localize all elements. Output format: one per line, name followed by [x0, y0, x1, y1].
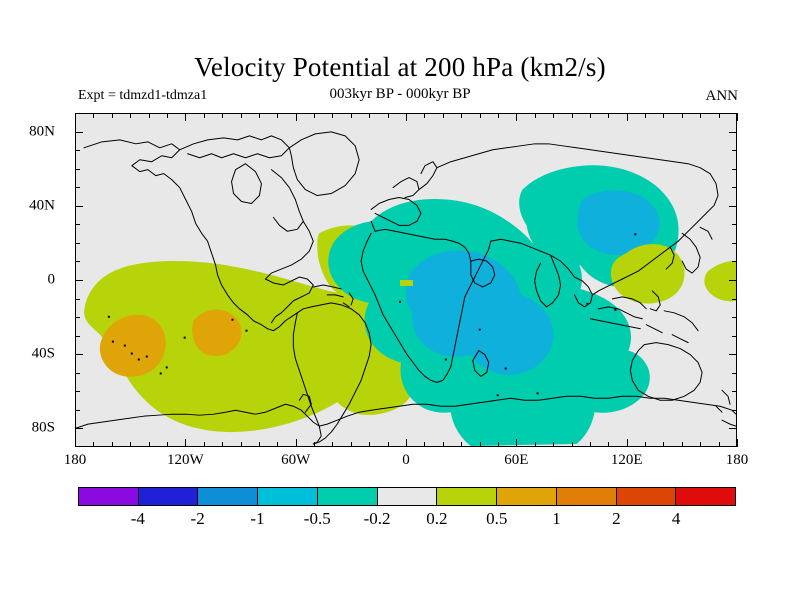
x-tick-top [663, 113, 664, 118]
colorbar[interactable] [78, 487, 736, 506]
x-tick-top [369, 113, 370, 118]
x-tick-bottom [204, 442, 205, 447]
region-maritime-positive-wrap [704, 261, 736, 301]
colorbar-segment[interactable] [437, 488, 497, 505]
y-tick-right [732, 373, 737, 374]
x-tick-bottom [75, 439, 76, 447]
x-tick-top [388, 113, 389, 118]
x-tick-bottom [112, 442, 113, 447]
x-tick-bottom [185, 439, 186, 447]
x-axis-label: 60E [504, 452, 528, 469]
x-tick-bottom [388, 442, 389, 447]
y-axis-label: 0 [48, 272, 56, 289]
x-tick-bottom [241, 442, 242, 447]
x-tick-bottom [314, 442, 315, 447]
x-tick-top [185, 113, 186, 121]
y-tick-right [729, 280, 737, 281]
season-label: ANN [706, 88, 739, 105]
colorbar-tick-label: 0.2 [426, 509, 447, 529]
y-axis-label: 40S [32, 346, 55, 363]
x-tick-bottom [553, 442, 554, 447]
x-tick-top [461, 113, 462, 118]
y-tick-right [732, 317, 737, 318]
colorbar-segment[interactable] [79, 488, 139, 505]
x-tick-top [590, 113, 591, 118]
y-tick-right [729, 354, 737, 355]
y-tick-right [732, 224, 737, 225]
colorbar-segment[interactable] [258, 488, 318, 505]
colorbar-segment[interactable] [139, 488, 199, 505]
x-tick-bottom [406, 439, 407, 447]
x-axis-label: 180 [726, 452, 749, 469]
y-tick-right [729, 132, 737, 133]
x-tick-top [351, 113, 352, 118]
x-tick-top [222, 113, 223, 118]
colorbar-tick-label: 0.5 [486, 509, 507, 529]
x-tick-top [424, 113, 425, 118]
y-tick-right [732, 391, 737, 392]
x-tick-top [719, 113, 720, 118]
colorbar-tick-label: 4 [672, 509, 681, 529]
x-axis-label: 0 [402, 452, 410, 469]
map-canvas [76, 114, 736, 446]
region-gulf-of-guinea-patch [400, 280, 413, 286]
y-tick-left [75, 132, 83, 133]
x-tick-bottom [516, 439, 517, 447]
y-tick-right [732, 150, 737, 151]
x-tick-top [553, 113, 554, 118]
x-tick-top [572, 113, 573, 118]
x-tick-top [314, 113, 315, 118]
y-tick-left [75, 299, 80, 300]
x-tick-bottom [461, 442, 462, 447]
colorbar-segment[interactable] [557, 488, 617, 505]
x-tick-top [112, 113, 113, 118]
y-tick-left [75, 206, 83, 207]
y-tick-right [729, 206, 737, 207]
colorbar-tick-label: 2 [612, 509, 621, 529]
page-title: Velocity Potential at 200 hPa (km2/s) [0, 52, 800, 83]
colorbar-segment[interactable] [318, 488, 378, 505]
y-tick-left [75, 150, 80, 151]
figure-root: Velocity Potential at 200 hPa (km2/s) 00… [0, 0, 800, 600]
x-tick-bottom [443, 442, 444, 447]
experiment-label: Expt = tdmzd1-tdmza1 [78, 88, 207, 104]
x-tick-top [332, 113, 333, 118]
x-tick-bottom [590, 442, 591, 447]
y-tick-left [75, 169, 80, 170]
x-tick-bottom [737, 439, 738, 447]
x-tick-bottom [663, 442, 664, 447]
colorbar-tick-label: -4 [131, 509, 145, 529]
x-tick-top [167, 113, 168, 118]
colorbar-segment[interactable] [497, 488, 557, 505]
y-tick-right [729, 428, 737, 429]
y-tick-left [75, 336, 80, 337]
x-tick-top [645, 113, 646, 118]
y-axis-label: 80N [29, 123, 55, 140]
y-tick-left [75, 373, 80, 374]
colorbar-tick-label: -0.2 [364, 509, 391, 529]
y-tick-right [732, 243, 737, 244]
x-axis-label: 120E [611, 452, 643, 469]
y-tick-right [732, 187, 737, 188]
y-axis-label: 40N [29, 197, 55, 214]
x-tick-bottom [498, 442, 499, 447]
y-tick-right [732, 261, 737, 262]
x-axis-label: 120W [167, 452, 204, 469]
y-tick-left [75, 391, 80, 392]
x-tick-bottom [167, 442, 168, 447]
x-tick-bottom [627, 439, 628, 447]
x-tick-top [627, 113, 628, 121]
x-tick-top [93, 113, 94, 118]
x-tick-top [608, 113, 609, 118]
x-tick-top [700, 113, 701, 118]
x-tick-bottom [149, 442, 150, 447]
x-tick-bottom [93, 442, 94, 447]
y-tick-left [75, 280, 83, 281]
y-axis-label: 80S [32, 420, 55, 437]
y-tick-left [75, 317, 80, 318]
x-tick-bottom [332, 442, 333, 447]
x-tick-top [737, 113, 738, 121]
x-tick-top [498, 113, 499, 118]
colorbar-tick-label: -0.5 [304, 509, 331, 529]
x-tick-top [241, 113, 242, 118]
contour-fills [84, 165, 736, 446]
y-tick-left [75, 187, 80, 188]
colorbar-segment[interactable] [617, 488, 677, 505]
x-tick-bottom [645, 442, 646, 447]
x-tick-top [535, 113, 536, 118]
x-axis-label: 180 [64, 452, 87, 469]
x-tick-top [75, 113, 76, 121]
x-tick-bottom [369, 442, 370, 447]
x-tick-top [406, 113, 407, 121]
x-tick-top [277, 113, 278, 118]
x-tick-top [149, 113, 150, 118]
x-tick-top [204, 113, 205, 118]
x-tick-top [480, 113, 481, 118]
map-plot-area [75, 113, 737, 447]
x-tick-bottom [424, 442, 425, 447]
x-tick-bottom [700, 442, 701, 447]
x-tick-top [516, 113, 517, 121]
x-tick-top [296, 113, 297, 121]
y-tick-left [75, 243, 80, 244]
y-tick-left [75, 354, 83, 355]
y-tick-left [75, 428, 83, 429]
colorbar-segment[interactable] [378, 488, 438, 505]
x-tick-top [259, 113, 260, 118]
x-tick-bottom [259, 442, 260, 447]
x-tick-top [443, 113, 444, 118]
colorbar-tick-label: -1 [250, 509, 264, 529]
colorbar-tick-label: 1 [552, 509, 561, 529]
x-tick-bottom [535, 442, 536, 447]
colorbar-segment[interactable] [676, 488, 735, 505]
y-tick-right [732, 336, 737, 337]
x-tick-bottom [130, 442, 131, 447]
x-tick-top [130, 113, 131, 118]
x-tick-bottom [351, 442, 352, 447]
x-tick-bottom [222, 442, 223, 447]
x-tick-top [682, 113, 683, 118]
x-tick-bottom [719, 442, 720, 447]
x-tick-bottom [480, 442, 481, 447]
y-tick-right [732, 169, 737, 170]
x-axis-label: 60W [281, 452, 310, 469]
y-tick-right [732, 299, 737, 300]
y-tick-left [75, 261, 80, 262]
y-tick-left [75, 410, 80, 411]
x-tick-bottom [572, 442, 573, 447]
colorbar-segment[interactable] [198, 488, 258, 505]
x-tick-bottom [682, 442, 683, 447]
x-tick-bottom [608, 442, 609, 447]
colorbar-tick-label: -2 [191, 509, 205, 529]
y-tick-left [75, 224, 80, 225]
x-tick-bottom [296, 439, 297, 447]
y-tick-right [732, 410, 737, 411]
x-tick-bottom [277, 442, 278, 447]
